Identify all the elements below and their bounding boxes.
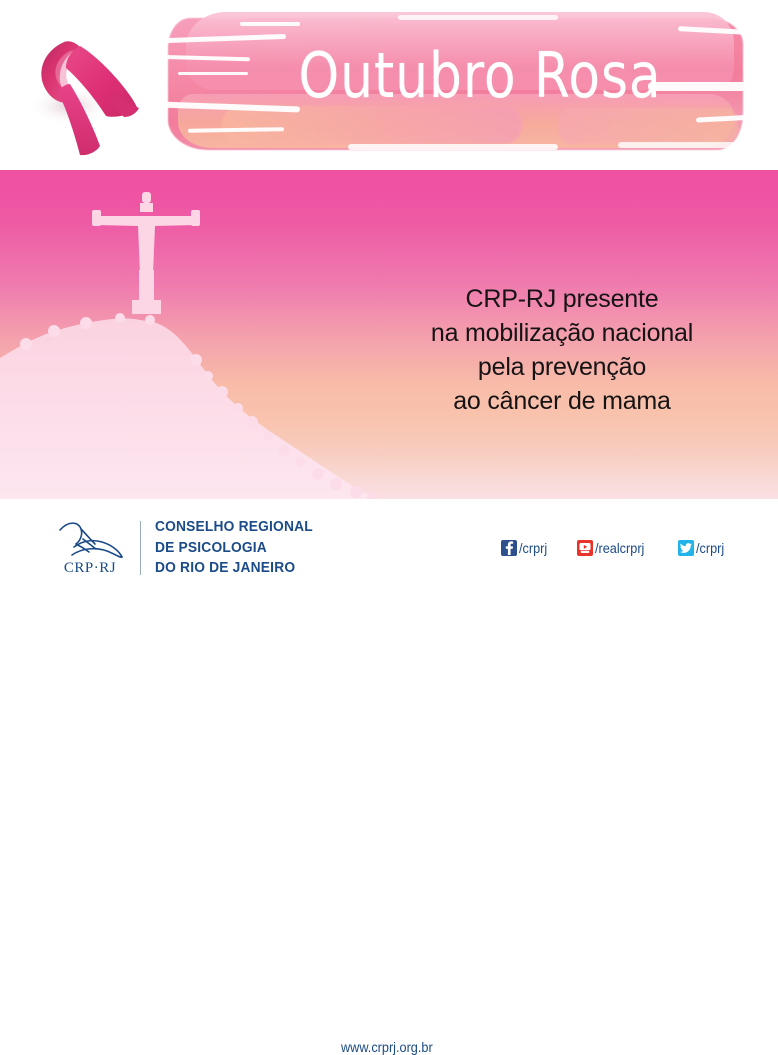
twitter-link[interactable]: /crprj xyxy=(678,540,726,556)
crp-rj-logo[interactable]: CRP·RJ CONSELHO REGIONAL DE PSICOLOGIA D… xyxy=(52,517,321,579)
message-line-4: ao câncer de mama xyxy=(382,384,742,418)
logo-organization-name: CONSELHO REGIONAL DE PSICOLOGIA DO RIO D… xyxy=(155,517,313,579)
christ-the-redeemer-silhouette xyxy=(0,170,420,499)
facebook-icon xyxy=(501,540,517,556)
logo-line-1: CONSELHO REGIONAL xyxy=(155,517,313,538)
page-title: Outubro Rosa xyxy=(285,34,676,116)
logo-line-3: DO RIO DE JANEIRO xyxy=(155,558,313,579)
twitter-icon xyxy=(678,540,694,556)
message-line-1: CRP-RJ presente xyxy=(382,282,742,316)
twitter-handle: /crprj xyxy=(696,541,724,556)
main-panel: CRP-RJ presente na mobilização nacional … xyxy=(0,170,778,499)
header-banner: Outubro Rosa xyxy=(0,0,778,168)
facebook-link[interactable]: /crprj xyxy=(501,540,549,556)
message-line-2: na mobilização nacional xyxy=(382,316,742,350)
message-line-3: pela prevenção xyxy=(382,350,742,384)
website-link[interactable]: www.crprj.org.br xyxy=(341,1040,433,1055)
youtube-handle: /realcrprj xyxy=(595,541,644,556)
svg-text:CRP·RJ: CRP·RJ xyxy=(64,560,116,576)
pink-awareness-ribbon-icon xyxy=(22,22,150,162)
campaign-message: CRP-RJ presente na mobilização nacional … xyxy=(382,282,742,418)
youtube-icon xyxy=(577,540,593,556)
youtube-link[interactable]: /realcrprj xyxy=(577,540,648,556)
logo-divider xyxy=(140,521,141,575)
logo-line-2: DE PSICOLOGIA xyxy=(155,538,313,559)
facebook-handle: /crprj xyxy=(519,541,547,556)
crp-rj-bird-logo-icon: CRP·RJ xyxy=(52,517,128,579)
footer-bar: CRP·RJ CONSELHO REGIONAL DE PSICOLOGIA D… xyxy=(0,499,778,600)
